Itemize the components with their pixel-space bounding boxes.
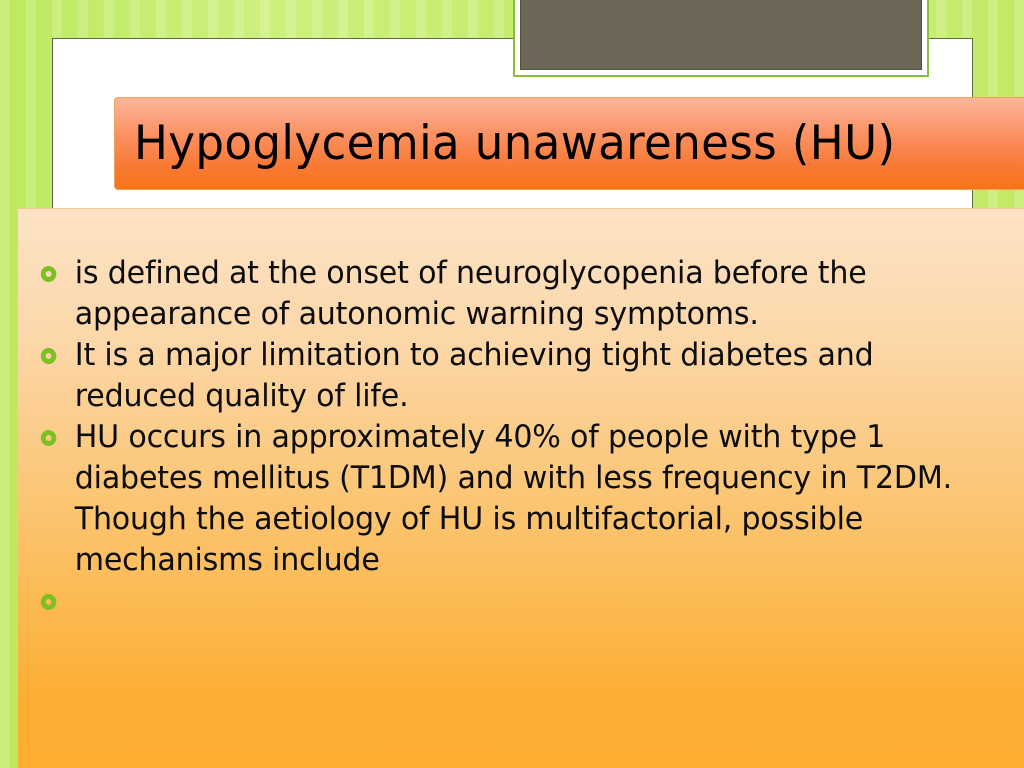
green-ring-bullet-icon [41, 348, 57, 364]
slide-content-panel: is defined at the onset of neuroglycopen… [18, 208, 1024, 768]
green-ring-bullet-icon [41, 266, 57, 282]
list-item [35, 581, 961, 622]
green-ring-bullet-icon [41, 430, 57, 446]
bullet-text: HU occurs in approximately 40% of people… [75, 417, 962, 581]
photo-placeholder-frame [513, 0, 929, 77]
list-item: is defined at the onset of neuroglycopen… [35, 253, 961, 335]
presentation-slide: Hypoglycemia unawareness (HU) is defined… [0, 0, 1024, 768]
slide-title: Hypoglycemia unawareness (HU) [134, 120, 896, 167]
bullet-text: It is a major limitation to achieving ti… [75, 335, 962, 417]
list-item: It is a major limitation to achieving ti… [35, 335, 961, 417]
slide-title-bar: Hypoglycemia unawareness (HU) [114, 97, 1024, 190]
green-ring-bullet-icon [41, 594, 57, 610]
bullet-text: is defined at the onset of neuroglycopen… [75, 253, 962, 335]
bullet-list: is defined at the onset of neuroglycopen… [18, 209, 1024, 622]
photo-placeholder-image [520, 0, 922, 70]
list-item: HU occurs in approximately 40% of people… [35, 417, 961, 581]
